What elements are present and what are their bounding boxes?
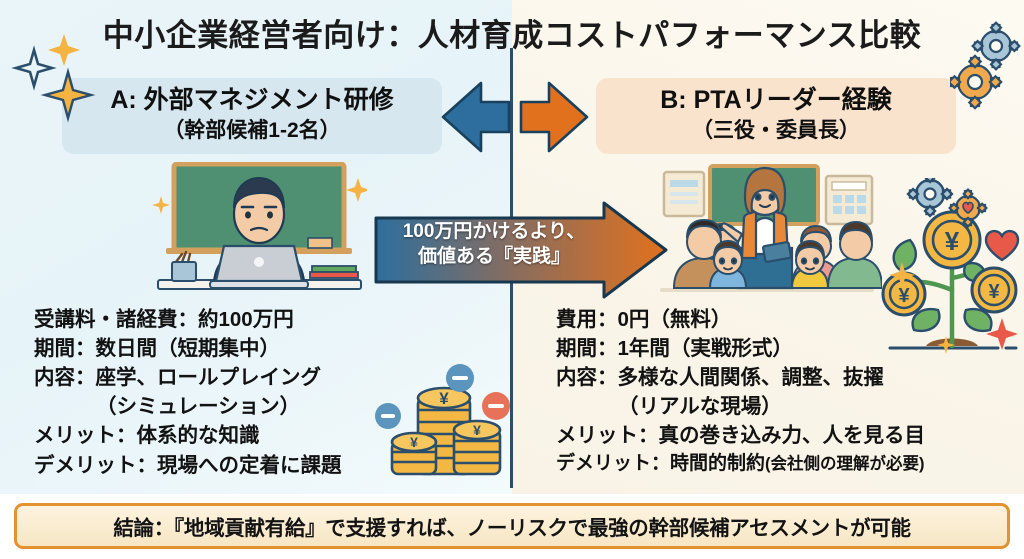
option-b-subheading: （三役・委員長） [606,117,946,144]
pta-group-illustration [652,162,882,305]
infographic-root: 中小企業経営者向け：人材育成コストパフォーマンス比較 [0,0,1024,559]
svg-text:¥: ¥ [898,285,910,307]
conclusion-text: 結論：『地域貢献有給』で支援すれば、ノーリスクで最強の幹部候補アセスメントが可能 [113,511,910,541]
option-b-detail-duration: 期間：1年間（実戦形式） [556,334,1024,363]
option-b-detail-demerit: デメリット：時間的制約(会社側の理解が必要) [556,451,1024,478]
option-b-detail-cost: 費用：0円（無料） [556,305,1024,334]
option-b-details: 費用：0円（無料） 期間：1年間（実戦形式） 内容：多様な人間関係、調整、抜擢 … [556,305,1024,478]
callout-arrow [372,200,670,300]
conclusion-banner: 結論：『地域貢献有給』で支援すれば、ノーリスクで最強の幹部候補アセスメントが可能 [14,503,1010,549]
option-a-detail-cost: 受講料・諸経費：約100万円 [34,305,434,334]
svg-text:¥: ¥ [410,434,418,450]
page-title: 中小企業経営者向け：人材育成コストパフォーマンス比較 [0,10,1024,55]
option-a-detail-duration: 期間：数日間（短期集中） [34,334,434,363]
svg-text:¥: ¥ [473,422,481,438]
option-b-demerit-main: デメリット：時間的制約 [556,453,765,474]
svg-text:¥: ¥ [988,281,1000,303]
svg-text:¥: ¥ [439,389,449,408]
option-b-demerit-note: (会社側の理解が必要) [765,455,925,473]
option-a-heading: A: 外部マネジメント研修 [72,86,432,115]
option-b-heading: B: PTAリーダー経験 [606,86,946,115]
gears-icon [950,20,1024,125]
option-b-detail-content-2: （リアルな現場） [556,392,1024,421]
option-a-subheading: （幹部候補1-2名） [72,117,432,144]
svg-text:¥: ¥ [945,226,960,256]
opposing-arrows-icon [441,71,589,163]
option-b-detail-content: 内容：多様な人間関係、調整、抜擢 [556,363,1024,392]
option-b-header-badge: B: PTAリーダー経験 （三役・委員長） [596,78,956,154]
coin-stacks-icon: ¥ ¥ ¥ [374,362,510,493]
businessman-at-laptop-illustration [152,162,367,305]
option-b-detail-merit: メリット：真の巻き込み力、人を見る目 [556,421,1024,450]
option-a-header-badge: A: 外部マネジメント研修 （幹部候補1-2名） [62,78,442,154]
sparkle-stars-icon [6,14,106,129]
